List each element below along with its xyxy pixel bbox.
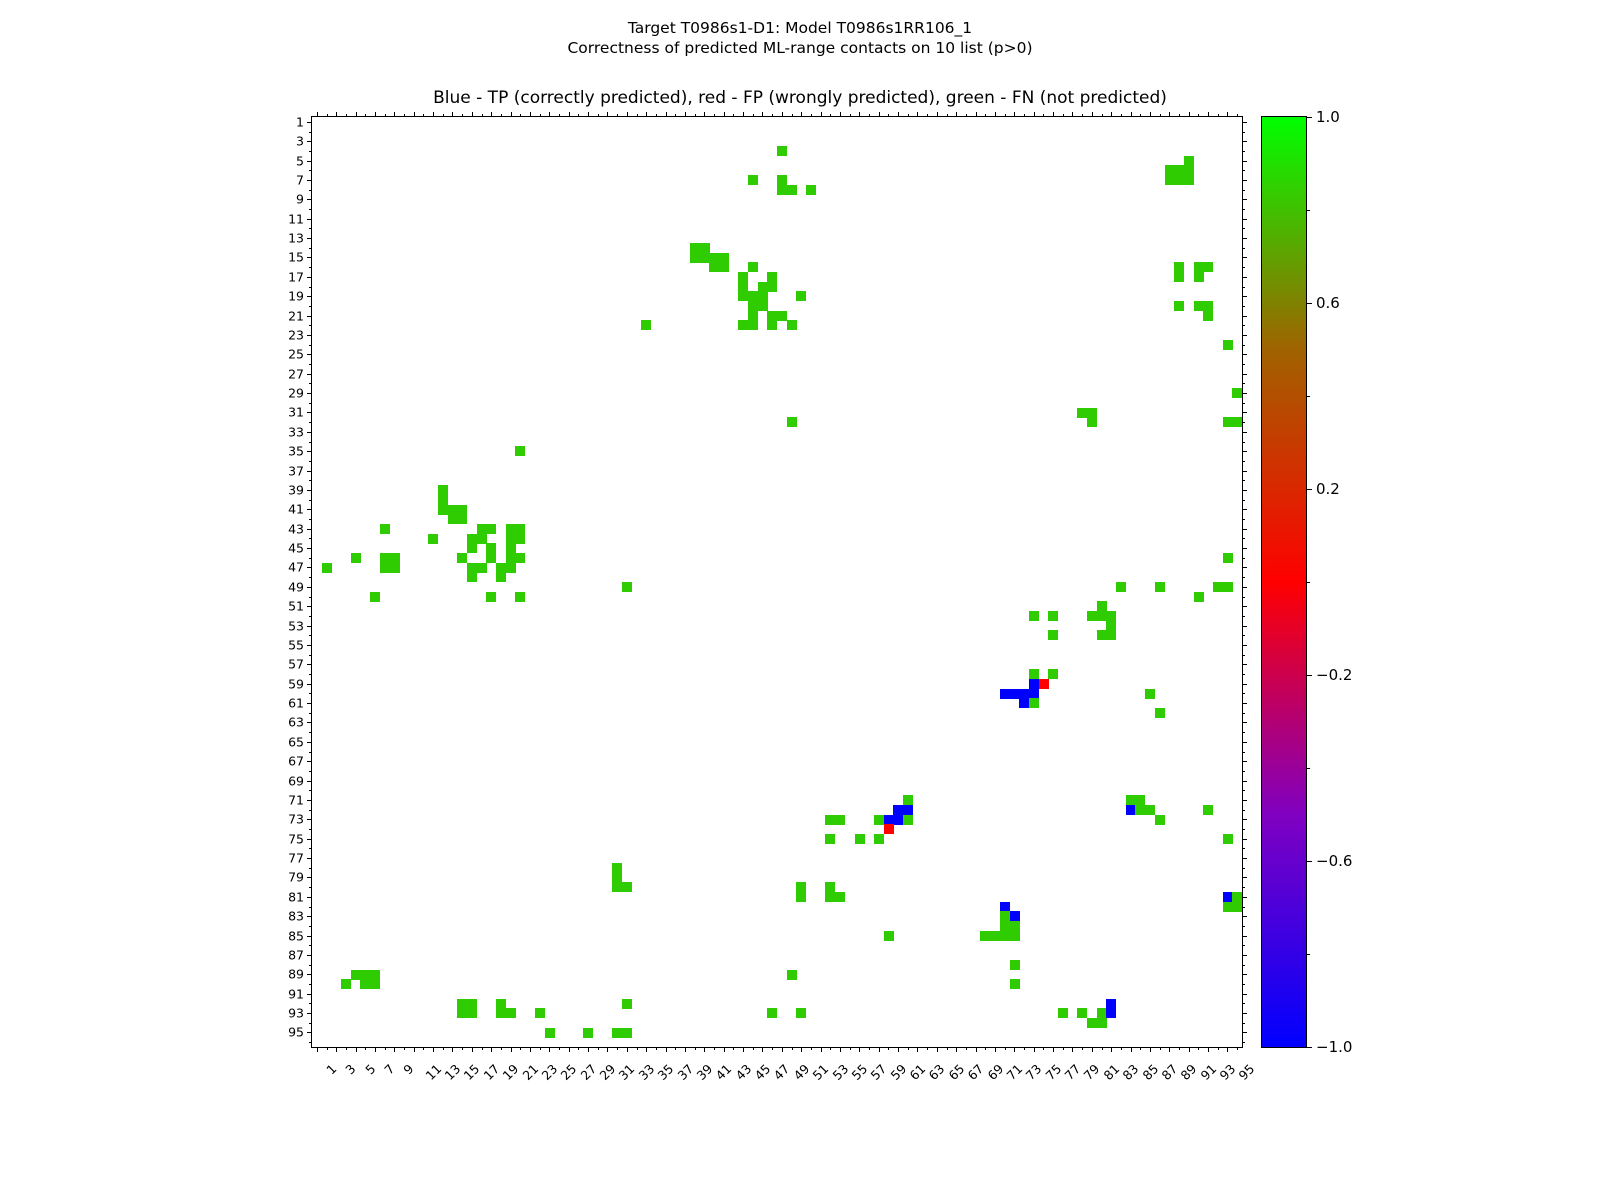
y-axis-tick [309, 325, 312, 326]
x-axis-tick [792, 1047, 793, 1050]
x-axis-tick [637, 1047, 638, 1050]
y-axis-tick [1242, 296, 1247, 297]
contact-cell-fn [1232, 902, 1242, 912]
contact-cell-fp [884, 824, 894, 834]
contact-cell-tp [893, 805, 903, 815]
x-axis-tick [666, 1047, 667, 1052]
contact-cell-fn [1155, 708, 1165, 718]
x-axis-tick [1024, 114, 1025, 117]
contact-cell-fn [1194, 592, 1204, 602]
x-axis-tick [850, 114, 851, 117]
contact-cell-fn [1203, 311, 1213, 321]
contact-cell-fn [903, 795, 913, 805]
contact-cell-fn [1097, 1018, 1107, 1028]
x-axis-tick [1140, 1047, 1141, 1050]
x-axis-tick [821, 1047, 822, 1052]
contact-cell-fn [1087, 417, 1097, 427]
x-axis-tick [966, 114, 967, 117]
y-axis-tick [309, 965, 312, 966]
contact-cell-tp [1000, 689, 1010, 699]
x-axis-tick [859, 112, 860, 117]
x-axis-tick [917, 1047, 918, 1052]
y-axis-tick [1242, 936, 1247, 937]
contact-cell-tp [1029, 689, 1039, 699]
y-axis-tick [1242, 597, 1245, 598]
colorbar-tick-minor [1306, 396, 1310, 397]
y-axis-tick [1242, 412, 1247, 413]
x-axis-tick [1024, 1047, 1025, 1050]
y-axis-tick [1242, 335, 1247, 336]
x-axis-tick [675, 1047, 676, 1050]
x-axis-tick [1121, 114, 1122, 117]
x-axis-tick [1179, 1047, 1180, 1050]
contact-cell-fn [1232, 388, 1242, 398]
contact-cell-fn [360, 970, 370, 980]
y-axis-tick-label: 77 [244, 851, 304, 866]
colorbar-tick-label: −0.2 [1316, 666, 1352, 684]
contact-cell-fn [545, 1028, 555, 1038]
y-axis-tick [1242, 558, 1245, 559]
contact-cell-fn [1135, 805, 1145, 815]
contact-cell-fn [1087, 611, 1097, 621]
y-axis-tick [307, 471, 312, 472]
contact-cell-fn [1184, 156, 1194, 166]
y-axis-tick [309, 287, 312, 288]
contact-cell-fn [1126, 795, 1136, 805]
contact-cell-fn [1097, 630, 1107, 640]
x-axis-tick [317, 112, 318, 117]
contact-cell-fn [486, 553, 496, 563]
x-axis-tick [1102, 114, 1103, 117]
contact-cell-fn [1087, 1018, 1097, 1028]
contact-cell-fn [612, 873, 622, 883]
y-axis-tick [1242, 548, 1247, 549]
contact-cell-fn [380, 524, 390, 534]
contact-cell-fn [748, 175, 758, 185]
contact-cell-fn [1010, 960, 1020, 970]
contact-cell-fn [1010, 921, 1020, 931]
y-axis-tick [1242, 848, 1245, 849]
y-axis-tick [307, 936, 312, 937]
x-axis-tick [782, 1047, 783, 1052]
y-axis-tick-label: 81 [244, 889, 304, 904]
x-axis-tick [995, 1047, 996, 1052]
x-axis-tick [462, 1047, 463, 1050]
contact-cell-fn [835, 815, 845, 825]
contact-cell-fn [796, 1008, 806, 1018]
contact-cell-fn [1223, 582, 1233, 592]
contact-cell-fn [1155, 815, 1165, 825]
y-axis-tick-label: 87 [244, 947, 304, 962]
y-axis-tick [1242, 839, 1247, 840]
contact-cell-fn [496, 572, 506, 582]
y-axis-tick [1242, 219, 1247, 220]
y-axis-tick [1242, 383, 1245, 384]
y-axis-tick [307, 722, 312, 723]
y-axis-tick [1242, 122, 1247, 123]
y-axis-tick [309, 422, 312, 423]
y-axis-tick [309, 829, 312, 830]
y-axis-tick [1242, 868, 1245, 869]
x-axis-tick [443, 114, 444, 117]
contact-cell-fn [787, 320, 797, 330]
contact-cell-fn [351, 553, 361, 563]
x-axis-tick-label: 1 [323, 1061, 339, 1077]
x-axis-tick [1092, 112, 1093, 117]
x-axis-tick [879, 112, 880, 117]
contact-cell-fn [322, 563, 332, 573]
x-axis-tick [743, 1047, 744, 1052]
x-axis-tick [530, 112, 531, 117]
x-axis-tick [1160, 1047, 1161, 1050]
x-axis-tick [598, 114, 599, 117]
x-axis-tick [462, 114, 463, 117]
x-axis-tick [656, 114, 657, 117]
y-axis-tick [307, 897, 312, 898]
contact-cell-fn [612, 882, 622, 892]
x-axis-tick [414, 1047, 415, 1052]
y-axis-tick [1242, 674, 1245, 675]
contact-cell-fn [370, 592, 380, 602]
contact-cell-fn [1232, 417, 1242, 427]
contact-cell-fn [583, 1028, 593, 1038]
y-axis-tick [307, 916, 312, 917]
x-axis-tick [956, 112, 957, 117]
colorbar-tick-label: −0.6 [1316, 852, 1352, 870]
y-axis-tick [309, 848, 312, 849]
contact-cell-fn [1174, 165, 1184, 175]
contact-cell-fn [787, 970, 797, 980]
y-axis-tick [1242, 916, 1247, 917]
contact-cell-fn [390, 563, 400, 573]
contact-cell-fn [1203, 805, 1213, 815]
x-axis-tick [501, 1047, 502, 1050]
contact-cell-fn [738, 320, 748, 330]
contact-cell-fn [738, 282, 748, 292]
y-axis-tick [307, 548, 312, 549]
x-axis-tick [695, 1047, 696, 1050]
x-axis-tick [385, 1047, 386, 1050]
y-axis-tick-label: 27 [244, 366, 304, 381]
y-axis-tick-label: 37 [244, 463, 304, 478]
y-axis-tick [307, 761, 312, 762]
contact-cell-fn [486, 592, 496, 602]
y-axis-tick [1242, 354, 1247, 355]
contact-cell-fn [612, 863, 622, 873]
colorbar-tick [1306, 1047, 1312, 1048]
contact-cell-fn [748, 291, 758, 301]
y-axis-tick [1242, 752, 1245, 753]
x-axis-tick [666, 112, 667, 117]
y-axis-tick-label: 39 [244, 482, 304, 497]
x-axis-tick [569, 1047, 570, 1052]
y-axis-tick [1242, 180, 1247, 181]
contact-cell-fn [1048, 669, 1058, 679]
y-axis-tick [309, 248, 312, 249]
x-axis-tick [627, 112, 628, 117]
x-axis-tick [317, 1047, 318, 1052]
y-axis-tick [1242, 907, 1245, 908]
contact-cell-fn [496, 999, 506, 1009]
contact-cell-fn [486, 524, 496, 534]
y-axis-tick [309, 538, 312, 539]
x-axis-tick [888, 114, 889, 117]
x-axis-tick [1131, 1047, 1132, 1052]
contact-cell-fn [535, 1008, 545, 1018]
contact-cell-fn [825, 882, 835, 892]
y-axis-tick [307, 839, 312, 840]
y-axis-tick [307, 451, 312, 452]
y-axis-tick [1242, 306, 1245, 307]
y-axis-tick [1242, 722, 1247, 723]
y-axis-tick [1242, 974, 1247, 975]
y-axis-tick [307, 781, 312, 782]
x-axis-tick [1014, 1047, 1015, 1052]
contact-cell-tp [1010, 689, 1020, 699]
x-axis-tick [327, 1047, 328, 1050]
contact-cell-fn [1223, 902, 1233, 912]
y-axis-tick [307, 800, 312, 801]
x-axis-tick [1043, 114, 1044, 117]
y-axis-tick [307, 219, 312, 220]
y-axis-tick [1242, 626, 1247, 627]
contact-cell-fn [990, 931, 1000, 941]
x-axis-tick [375, 1047, 376, 1052]
colorbar-tick-minor [1306, 210, 1310, 211]
x-axis-tick [898, 1047, 899, 1052]
y-axis-tick-label: 85 [244, 928, 304, 943]
contact-cell-fn [1223, 553, 1233, 563]
y-axis-tick [1242, 480, 1245, 481]
x-axis-tick [1092, 1047, 1093, 1052]
x-axis-tick [976, 1047, 977, 1052]
x-axis-tick [588, 112, 589, 117]
contact-cell-fn [641, 320, 651, 330]
contact-cell-tp [1126, 805, 1136, 815]
y-axis-tick [1242, 393, 1247, 394]
x-axis-tick [869, 1047, 870, 1050]
x-axis-tick-label: 7 [381, 1061, 397, 1077]
x-axis-tick [840, 112, 841, 117]
x-axis-tick [346, 1047, 347, 1050]
y-axis-tick [1242, 577, 1245, 578]
x-axis-tick [782, 112, 783, 117]
y-axis-tick-label: 55 [244, 637, 304, 652]
y-axis-tick [309, 461, 312, 462]
x-axis-tick [869, 114, 870, 117]
y-axis-tick [307, 374, 312, 375]
y-axis-tick [307, 277, 312, 278]
y-axis-tick-label: 89 [244, 967, 304, 982]
x-axis-tick [733, 1047, 734, 1050]
y-axis-tick [309, 984, 312, 985]
contact-cell-fn [748, 311, 758, 321]
contact-cell-fn [767, 1008, 777, 1018]
y-axis-tick [307, 354, 312, 355]
y-axis-tick-label: 21 [244, 308, 304, 323]
x-axis-tick [772, 1047, 773, 1050]
contact-cell-fn [806, 185, 816, 195]
y-axis-tick-label: 61 [244, 696, 304, 711]
contact-cell-fn [884, 931, 894, 941]
y-axis-tick-label: 45 [244, 541, 304, 556]
contact-cell-fn [1174, 175, 1184, 185]
contact-cell-fn [1155, 582, 1165, 592]
x-axis-tick [1072, 112, 1073, 117]
x-axis-tick [966, 1047, 967, 1050]
x-axis-tick [540, 114, 541, 117]
contact-cell-fn [486, 543, 496, 553]
contact-cell-fn [758, 282, 768, 292]
contact-cell-fn [467, 1008, 477, 1018]
y-axis-tick [307, 703, 312, 704]
contact-cell-fn [622, 582, 632, 592]
x-axis-tick [530, 1047, 531, 1052]
y-axis-tick [309, 771, 312, 772]
y-axis-tick [309, 616, 312, 617]
contact-cell-fn [748, 262, 758, 272]
y-axis-tick-label: 11 [244, 211, 304, 226]
x-axis-tick [937, 112, 938, 117]
y-axis-tick [1242, 132, 1245, 133]
y-axis-tick [1242, 587, 1247, 588]
y-axis-tick-label: 73 [244, 812, 304, 827]
x-axis-tick [801, 112, 802, 117]
x-axis-tick [1198, 1047, 1199, 1050]
x-axis-tick [1005, 114, 1006, 117]
contact-cell-fn [496, 563, 506, 573]
y-axis-tick [307, 122, 312, 123]
y-axis-tick [1242, 829, 1245, 830]
x-axis-tick [394, 1047, 395, 1052]
y-axis-tick [309, 132, 312, 133]
y-axis-tick [309, 887, 312, 888]
y-axis-tick-label: 71 [244, 792, 304, 807]
contact-cell-fn [1223, 834, 1233, 844]
y-axis-tick [309, 170, 312, 171]
figure-legend-caption: Blue - TP (correctly predicted), red - F… [0, 88, 1600, 108]
x-axis-tick [937, 1047, 938, 1052]
x-axis-tick [753, 1047, 754, 1050]
contact-cell-fn [1184, 175, 1194, 185]
y-axis-tick [1242, 887, 1245, 888]
y-axis-tick [307, 974, 312, 975]
y-axis-tick [307, 606, 312, 607]
contact-cell-fn [787, 417, 797, 427]
y-axis-tick [1242, 703, 1247, 704]
x-axis-tick [1208, 1047, 1209, 1052]
x-axis-tick [433, 1047, 434, 1052]
contact-cell-fn [874, 834, 884, 844]
contact-cell-fn [767, 320, 777, 330]
y-axis-tick [309, 442, 312, 443]
x-axis-tick [1131, 112, 1132, 117]
x-axis-tick-label: 9 [401, 1061, 417, 1077]
x-axis-tick [1227, 1047, 1228, 1052]
contact-cell-fn [506, 1008, 516, 1018]
x-axis-tick [1218, 1047, 1219, 1050]
contact-cell-fn [1048, 611, 1058, 621]
x-axis-tick [724, 112, 725, 117]
x-axis-tick [607, 112, 608, 117]
contact-map-figure: Target T0986s1-D1: Model T0986s1RR106_1 … [0, 0, 1600, 1200]
contact-cell-fn [796, 882, 806, 892]
y-axis-tick-label: 19 [244, 289, 304, 304]
x-axis-tick [985, 114, 986, 117]
x-axis-tick [1198, 114, 1199, 117]
contact-cell-fn [758, 301, 768, 311]
x-axis-tick [1063, 114, 1064, 117]
x-axis-tick [1208, 112, 1209, 117]
y-axis-tick [307, 684, 312, 685]
contact-cell-fn [477, 524, 487, 534]
x-axis-tick [714, 114, 715, 117]
x-axis-tick [394, 112, 395, 117]
y-axis-tick [1242, 316, 1247, 317]
contact-cell-fn [477, 563, 487, 573]
colorbar-tick-label: 1.0 [1316, 108, 1340, 126]
y-axis-tick [1242, 257, 1247, 258]
contact-cell-fn [1048, 630, 1058, 640]
y-axis-tick [1242, 141, 1247, 142]
x-axis-tick [365, 114, 366, 117]
y-axis-tick [309, 674, 312, 675]
y-axis-tick [309, 1023, 312, 1024]
contact-cell-fn [622, 882, 632, 892]
x-axis-tick [423, 114, 424, 117]
contact-cell-tp [1000, 902, 1010, 912]
y-axis-tick [309, 500, 312, 501]
y-axis-tick [1242, 529, 1247, 530]
y-axis-tick [1242, 325, 1245, 326]
contact-cell-fn [467, 572, 477, 582]
contact-cell-fn [1116, 582, 1126, 592]
contact-cell-fn [796, 892, 806, 902]
contact-cell-fn [515, 534, 525, 544]
y-axis-tick-label: 35 [244, 444, 304, 459]
x-axis-tick [1121, 1047, 1122, 1050]
contact-cell-fn [903, 815, 913, 825]
y-axis-tick [307, 877, 312, 878]
contact-cell-fn [1010, 931, 1020, 941]
x-axis-tick [1034, 112, 1035, 117]
x-axis-tick [1140, 114, 1141, 117]
contact-cell-fn [438, 485, 448, 495]
y-axis-tick [309, 635, 312, 636]
y-axis-tick [1242, 1013, 1247, 1014]
y-axis-tick [309, 597, 312, 598]
y-axis-tick-label: 9 [244, 192, 304, 207]
x-axis-tick [704, 112, 705, 117]
y-axis-tick [309, 1003, 312, 1004]
contact-cell-fn [700, 253, 710, 263]
contact-cell-tp [1010, 911, 1020, 921]
colorbar-tick [1306, 675, 1312, 676]
x-axis-tick [356, 112, 357, 117]
contact-cell-fn [1213, 582, 1223, 592]
y-axis-tick-label: 23 [244, 327, 304, 342]
y-axis-tick-label: 47 [244, 560, 304, 575]
colorbar-tick [1306, 117, 1312, 118]
x-axis-tick [1150, 1047, 1151, 1052]
contact-cell-fn [1194, 301, 1204, 311]
x-axis-tick [1053, 112, 1054, 117]
x-axis-tick [559, 114, 560, 117]
y-axis-tick [307, 567, 312, 568]
contact-cell-fn [506, 553, 516, 563]
y-axis-tick [307, 819, 312, 820]
y-axis-tick-label: 93 [244, 1006, 304, 1021]
